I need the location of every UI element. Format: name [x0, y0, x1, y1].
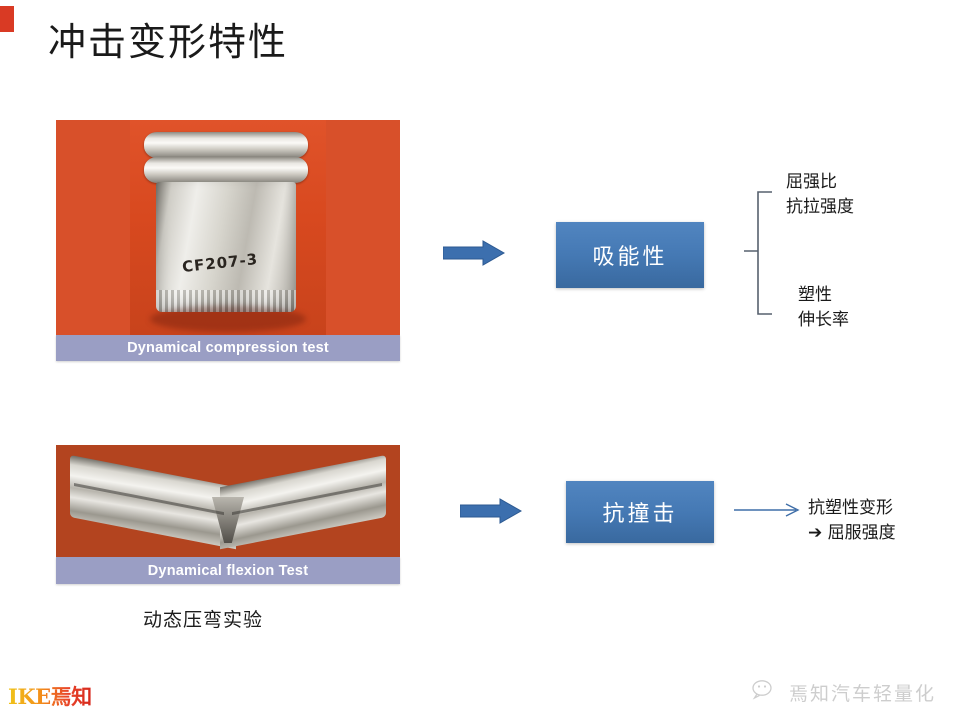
- bracket-energy-outputs: [742, 190, 776, 316]
- fold-lower: [144, 157, 308, 183]
- wechat-icon: [751, 679, 781, 706]
- photo-caption-flexion: Dynamical flexion Test: [56, 557, 400, 584]
- watermark: 焉知汽车轻量化: [751, 679, 936, 706]
- photo-frame-flexion: [56, 445, 400, 557]
- output-text-strength-ratio: 屈强比 抗拉强度: [786, 170, 854, 220]
- specimen-shadow: [150, 306, 306, 332]
- specimen-v-bent-beam: [70, 453, 386, 549]
- block-arrow-energy: [443, 240, 505, 266]
- logo-ike: IKE焉知: [8, 684, 92, 710]
- title-accent-bar: [0, 6, 14, 32]
- page-title: 冲击变形特性: [48, 18, 288, 66]
- beam-right-leg: [220, 455, 386, 549]
- photo-card-compression: CF207-3 Dynamical compression test: [56, 120, 400, 361]
- output-text-yield-strength: 抗塑性变形 ➔ 屈服强度: [808, 496, 896, 546]
- photo-image-compression: CF207-3: [130, 120, 326, 335]
- photo-frame-compression: CF207-3: [56, 120, 400, 335]
- block-arrow-impact: [460, 498, 522, 524]
- line-arrow-impact-output: [734, 498, 806, 522]
- specimen-crushed-box: CF207-3: [142, 126, 314, 330]
- output-text-plasticity: 塑性 伸长率: [798, 283, 849, 333]
- beam-left-leg: [70, 455, 236, 549]
- photo-card-flexion: Dynamical flexion Test: [56, 445, 400, 584]
- specimen-body: [156, 182, 296, 312]
- fold-upper: [144, 132, 308, 158]
- watermark-text: 焉知汽车轻量化: [789, 679, 936, 706]
- slide-canvas: 冲击变形特性 CF207-3 Dynamical compression tes…: [0, 0, 960, 720]
- photo-caption-compression: Dynamical compression test: [56, 335, 400, 361]
- concept-box-energy-absorption[interactable]: 吸能性: [556, 222, 704, 288]
- bottom-note-dynamic-bending: 动态压弯实验: [143, 605, 263, 632]
- concept-box-impact-resistance[interactable]: 抗撞击: [566, 481, 714, 543]
